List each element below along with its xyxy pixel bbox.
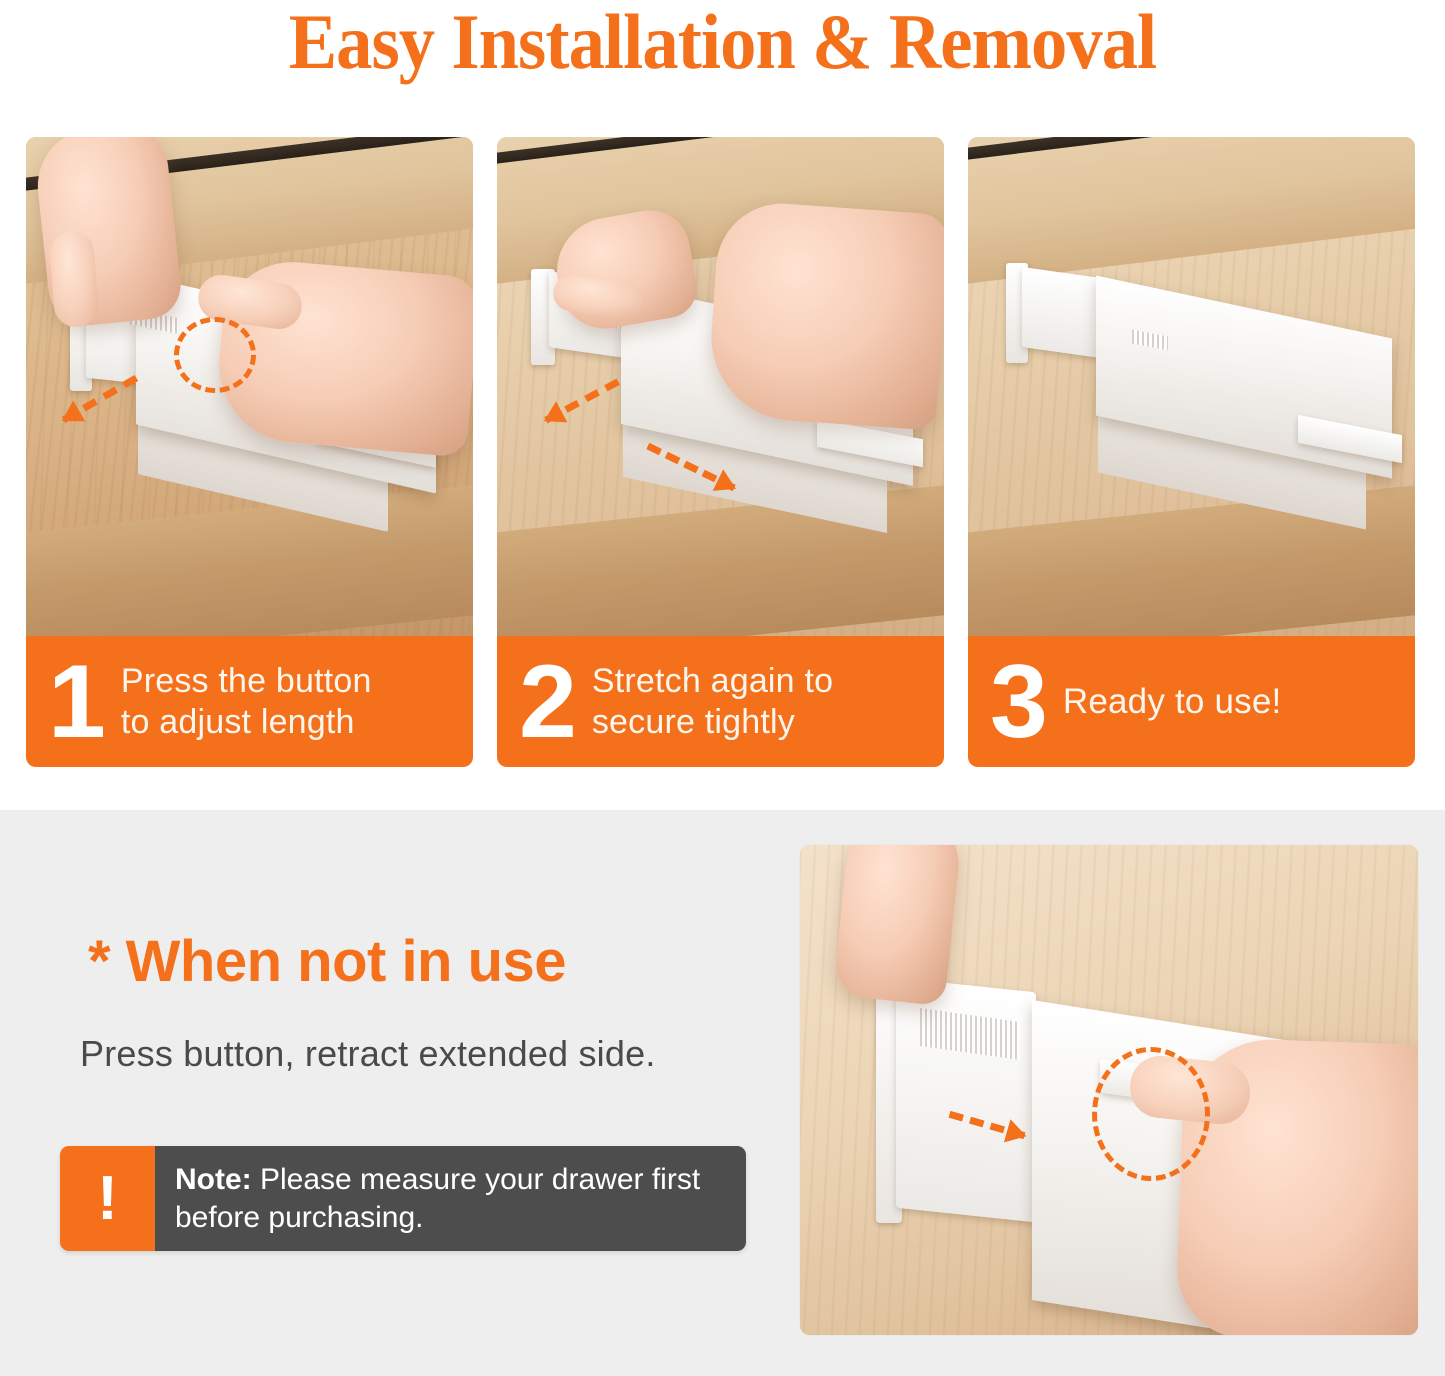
step-1-photo bbox=[26, 137, 473, 636]
left-index-finger bbox=[49, 230, 100, 329]
step-1-text-line1: Press the button bbox=[121, 661, 372, 702]
step-1-number: 1 bbox=[48, 652, 103, 752]
step-card-1: 1 Press the button to adjust length bbox=[26, 137, 473, 767]
step-2-photo bbox=[497, 137, 944, 636]
exclamation-mark-icon: ! bbox=[60, 1146, 155, 1251]
when-not-in-use-subheading: Press button, retract extended side. bbox=[80, 1032, 656, 1076]
note-message: Please measure your drawer first before … bbox=[175, 1163, 700, 1234]
step-2-number: 2 bbox=[519, 652, 574, 752]
button-highlight-circle bbox=[1092, 1047, 1210, 1181]
note-text: Note: Please measure your drawer first b… bbox=[175, 1161, 730, 1237]
note-body: Note: Please measure your drawer first b… bbox=[155, 1146, 746, 1251]
button-highlight-circle bbox=[174, 317, 256, 393]
step-card-2: 2 Stretch again to secure tightly bbox=[497, 137, 944, 767]
step-2-text: Stretch again to secure tightly bbox=[592, 661, 833, 743]
note-label: Note: bbox=[175, 1163, 252, 1196]
right-hand bbox=[706, 199, 944, 431]
step-card-3: 3 Ready to use! bbox=[968, 137, 1415, 767]
installation-section: Easy Installation & Removal bbox=[0, 0, 1445, 810]
note-callout: ! Note: Please measure your drawer first… bbox=[60, 1146, 746, 1251]
step-3-caption: 3 Ready to use! bbox=[968, 636, 1415, 767]
left-index-finger bbox=[833, 845, 964, 1006]
when-not-in-use-heading: * When not in use bbox=[88, 930, 566, 994]
step-3-photo bbox=[968, 137, 1415, 636]
step-1-text: Press the button to adjust length bbox=[121, 661, 372, 743]
infographic-page: Easy Installation & Removal bbox=[0, 0, 1445, 1376]
step-3-number: 3 bbox=[990, 652, 1045, 752]
step-1-text-line2: to adjust length bbox=[121, 702, 372, 743]
bottom-left-text-block: * When not in use Press button, retract … bbox=[0, 810, 790, 1376]
page-title: Easy Installation & Removal bbox=[51, 0, 1395, 86]
step-2-text-line1: Stretch again to bbox=[592, 661, 833, 702]
step-3-text: Ready to use! bbox=[1063, 681, 1282, 722]
step-2-caption: 2 Stretch again to secure tightly bbox=[497, 636, 944, 767]
retract-photo bbox=[800, 845, 1418, 1335]
step-2-text-line2: secure tightly bbox=[592, 702, 833, 743]
step-card-list: 1 Press the button to adjust length bbox=[26, 137, 1420, 767]
step-1-caption: 1 Press the button to adjust length bbox=[26, 636, 473, 767]
